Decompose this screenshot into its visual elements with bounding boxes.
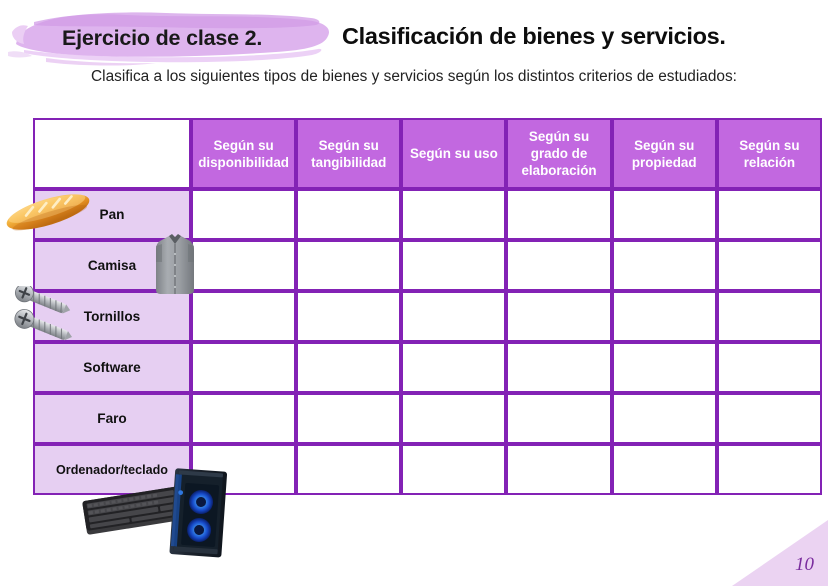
cell-tornillos-uso[interactable] <box>401 291 506 342</box>
cell-tornillos-relacion[interactable] <box>717 291 822 342</box>
cell-pan-uso[interactable] <box>401 189 506 240</box>
cell-pan-propiedad[interactable] <box>612 189 717 240</box>
cell-ordenador-uso[interactable] <box>401 444 506 495</box>
cell-ordenador-tangibilidad[interactable] <box>296 444 401 495</box>
table-row: Ordenador/teclado <box>33 444 822 495</box>
cell-pan-disponibilidad[interactable] <box>191 189 296 240</box>
cell-camisa-propiedad[interactable] <box>612 240 717 291</box>
cell-ordenador-propiedad[interactable] <box>612 444 717 495</box>
row-label-pan: Pan <box>33 189 191 240</box>
column-header-relacion: Según su relación <box>717 118 822 189</box>
table-row: Tornillos <box>33 291 822 342</box>
table-header-row: Según su disponibilidad Según su tangibi… <box>33 118 822 189</box>
page-title: Clasificación de bienes y servicios. <box>342 23 726 50</box>
cell-camisa-relacion[interactable] <box>717 240 822 291</box>
instructions-text: Clasifica a los siguientes tipos de bien… <box>64 66 764 87</box>
cell-software-grado[interactable] <box>506 342 611 393</box>
cell-pan-tangibilidad[interactable] <box>296 189 401 240</box>
exercise-label: Ejercicio de clase 2. <box>62 26 262 51</box>
column-header-uso: Según su uso <box>401 118 506 189</box>
cell-pan-relacion[interactable] <box>717 189 822 240</box>
column-header-grado-elaboracion: Según su grado de elaboración <box>506 118 611 189</box>
classification-table-container: Según su disponibilidad Según su tangibi… <box>33 118 822 506</box>
cell-software-uso[interactable] <box>401 342 506 393</box>
row-label-ordenador-teclado: Ordenador/teclado <box>33 444 191 495</box>
table-row: Camisa <box>33 240 822 291</box>
cell-faro-propiedad[interactable] <box>612 393 717 444</box>
page-number: 10 <box>795 554 814 576</box>
table-row: Software <box>33 342 822 393</box>
table-row: Faro <box>33 393 822 444</box>
column-header-tangibilidad: Según su tangibilidad <box>296 118 401 189</box>
cell-camisa-disponibilidad[interactable] <box>191 240 296 291</box>
table-corner-spacer <box>33 118 191 189</box>
column-header-disponibilidad: Según su disponibilidad <box>191 118 296 189</box>
cell-tornillos-disponibilidad[interactable] <box>191 291 296 342</box>
cell-faro-grado[interactable] <box>506 393 611 444</box>
row-label-tornillos: Tornillos <box>33 291 191 342</box>
row-label-camisa: Camisa <box>33 240 191 291</box>
table-row: Pan <box>33 189 822 240</box>
cell-camisa-grado[interactable] <box>506 240 611 291</box>
cell-software-tangibilidad[interactable] <box>296 342 401 393</box>
table-body: Pan Camisa Tornillos <box>33 189 822 495</box>
cell-faro-uso[interactable] <box>401 393 506 444</box>
cell-faro-relacion[interactable] <box>717 393 822 444</box>
cell-software-disponibilidad[interactable] <box>191 342 296 393</box>
classification-table: Según su disponibilidad Según su tangibi… <box>33 118 822 495</box>
row-label-software: Software <box>33 342 191 393</box>
cell-pan-grado[interactable] <box>506 189 611 240</box>
cell-ordenador-disponibilidad[interactable] <box>191 444 296 495</box>
cell-software-relacion[interactable] <box>717 342 822 393</box>
cell-tornillos-tangibilidad[interactable] <box>296 291 401 342</box>
cell-camisa-uso[interactable] <box>401 240 506 291</box>
cell-tornillos-grado[interactable] <box>506 291 611 342</box>
cell-faro-disponibilidad[interactable] <box>191 393 296 444</box>
cell-tornillos-propiedad[interactable] <box>612 291 717 342</box>
page-number-corner: 10 <box>732 520 828 586</box>
cell-camisa-tangibilidad[interactable] <box>296 240 401 291</box>
row-label-faro: Faro <box>33 393 191 444</box>
cell-ordenador-relacion[interactable] <box>717 444 822 495</box>
cell-software-propiedad[interactable] <box>612 342 717 393</box>
column-header-propiedad: Según su propiedad <box>612 118 717 189</box>
corner-triangle-decoration <box>732 520 828 586</box>
slide-header: Ejercicio de clase 2. Clasificación de b… <box>0 0 828 115</box>
cell-ordenador-grado[interactable] <box>506 444 611 495</box>
cell-faro-tangibilidad[interactable] <box>296 393 401 444</box>
